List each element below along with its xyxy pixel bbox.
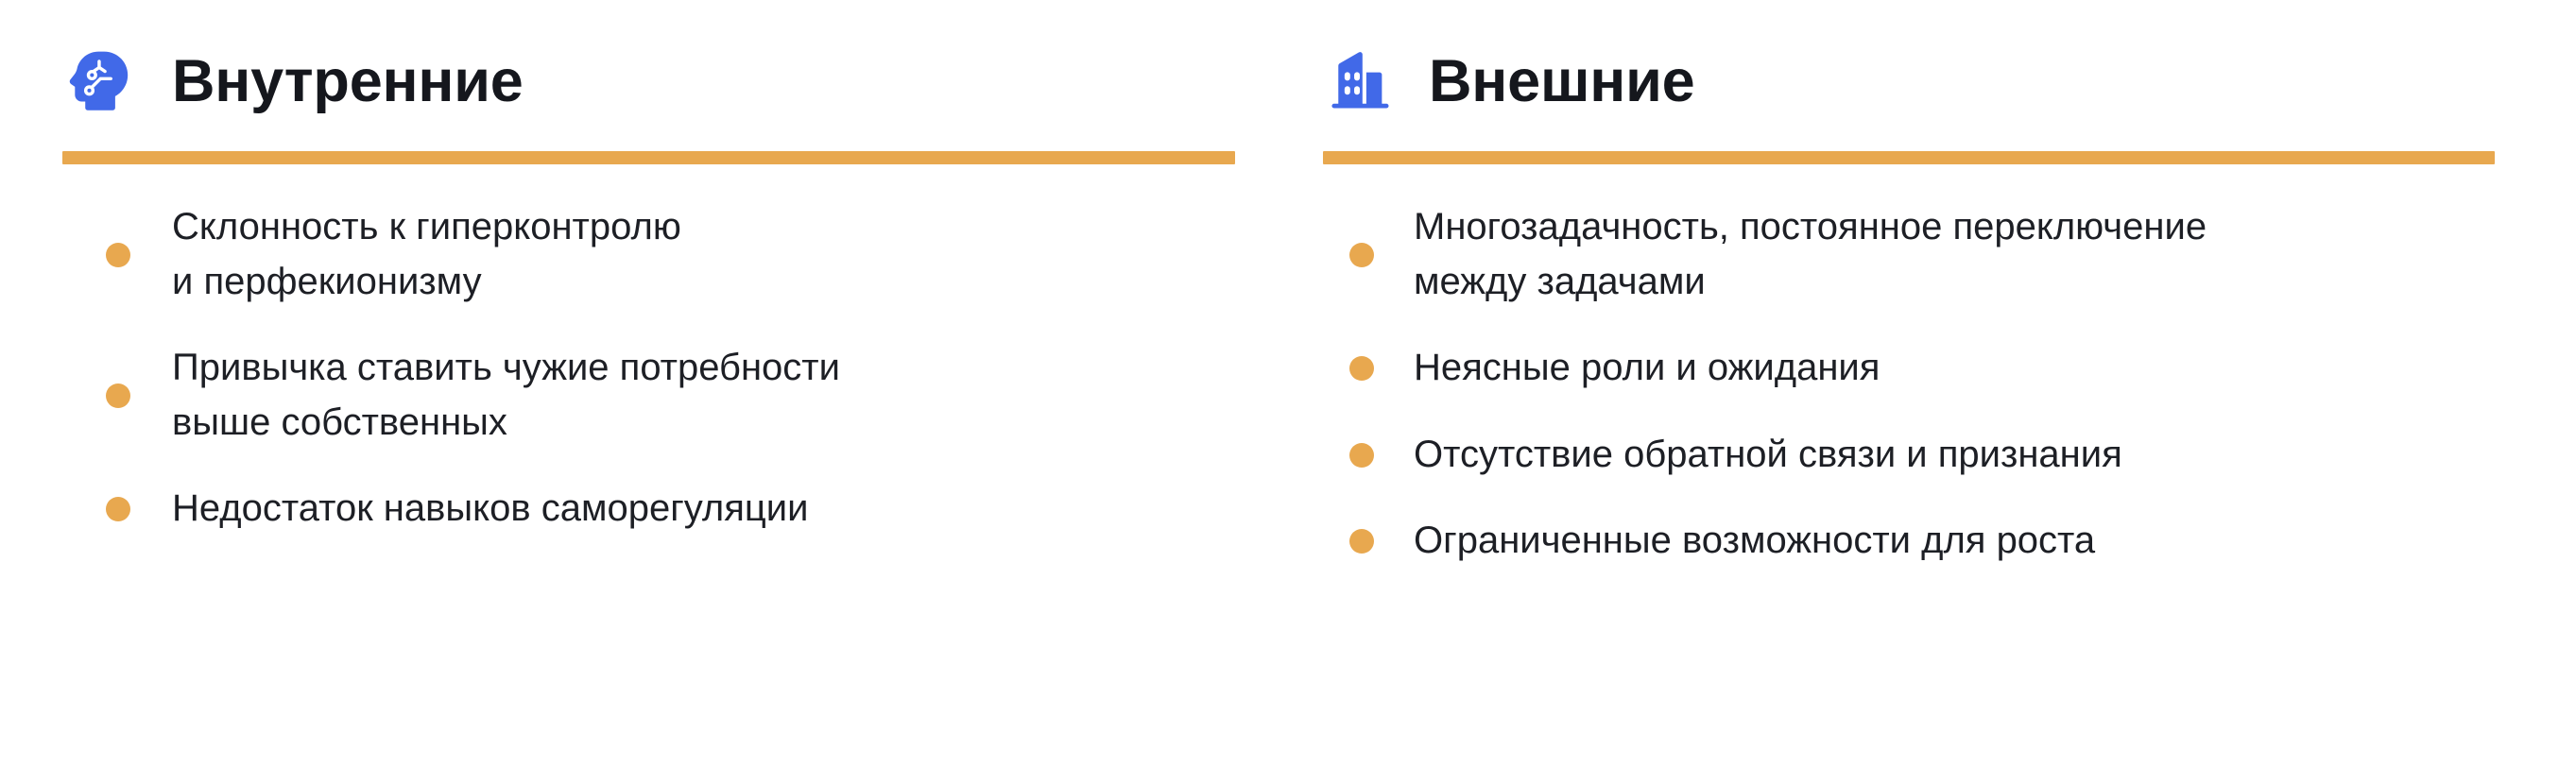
- bullet-dot-icon: [106, 243, 130, 267]
- column-external-bullets: Многозадачность, постоянное переключение…: [1323, 200, 2495, 569]
- bullet-dot-icon: [1349, 243, 1374, 267]
- list-item: Отсутствие обратной связи и признания: [1323, 428, 2495, 483]
- column-external-header: Внешние: [1323, 38, 2495, 125]
- column-internal-inner: Внутренние Склонность к гиперконтролю и …: [62, 38, 1235, 537]
- column-external-divider: [1323, 151, 2495, 164]
- list-item: Многозадачность, постоянное переключение…: [1323, 200, 2495, 309]
- bullet-dot-icon: [1349, 529, 1374, 554]
- column-internal-divider: [62, 151, 1235, 164]
- bullet-dot-icon: [106, 497, 130, 521]
- bullet-dot-icon: [106, 383, 130, 408]
- list-item-label: Склонность к гиперконтролю и перфекиониз…: [172, 200, 681, 309]
- column-external-title: Внешние: [1429, 52, 1695, 111]
- bullet-dot-icon: [1349, 356, 1374, 381]
- column-external-inner: Внешние Многозадачность, постоянное пере…: [1323, 38, 2495, 569]
- list-item-label: Многозадачность, постоянное переключение…: [1414, 200, 2207, 309]
- list-item-label: Отсутствие обратной связи и признания: [1414, 428, 2122, 483]
- list-item-label: Неясные роли и ожидания: [1414, 341, 1880, 396]
- column-internal-bullets: Склонность к гиперконтролю и перфекиониз…: [62, 200, 1235, 537]
- column-internal: Внутренние Склонность к гиперконтролю и …: [0, 0, 1235, 537]
- list-item: Привычка ставить чужие потребности выше …: [62, 341, 1235, 450]
- list-item: Склонность к гиперконтролю и перфекиониз…: [62, 200, 1235, 309]
- list-item: Недостаток навыков саморегуляции: [62, 482, 1235, 537]
- list-item: Ограниченные возможности для роста: [1323, 514, 2495, 569]
- slide-root: Внутренние Склонность к гиперконтролю и …: [0, 0, 2576, 784]
- column-external: Внешние Многозадачность, постоянное пере…: [1235, 0, 2576, 569]
- column-internal-title: Внутренние: [172, 52, 524, 111]
- office-building-icon: [1323, 45, 1395, 117]
- list-item-label: Недостаток навыков саморегуляции: [172, 482, 809, 537]
- list-item-label: Ограниченные возможности для роста: [1414, 514, 2095, 569]
- column-internal-header: Внутренние: [62, 38, 1235, 125]
- bullet-dot-icon: [1349, 443, 1374, 468]
- list-item: Неясные роли и ожидания: [1323, 341, 2495, 396]
- list-item-label: Привычка ставить чужие потребности выше …: [172, 341, 840, 450]
- head-circuit-icon: [62, 45, 134, 117]
